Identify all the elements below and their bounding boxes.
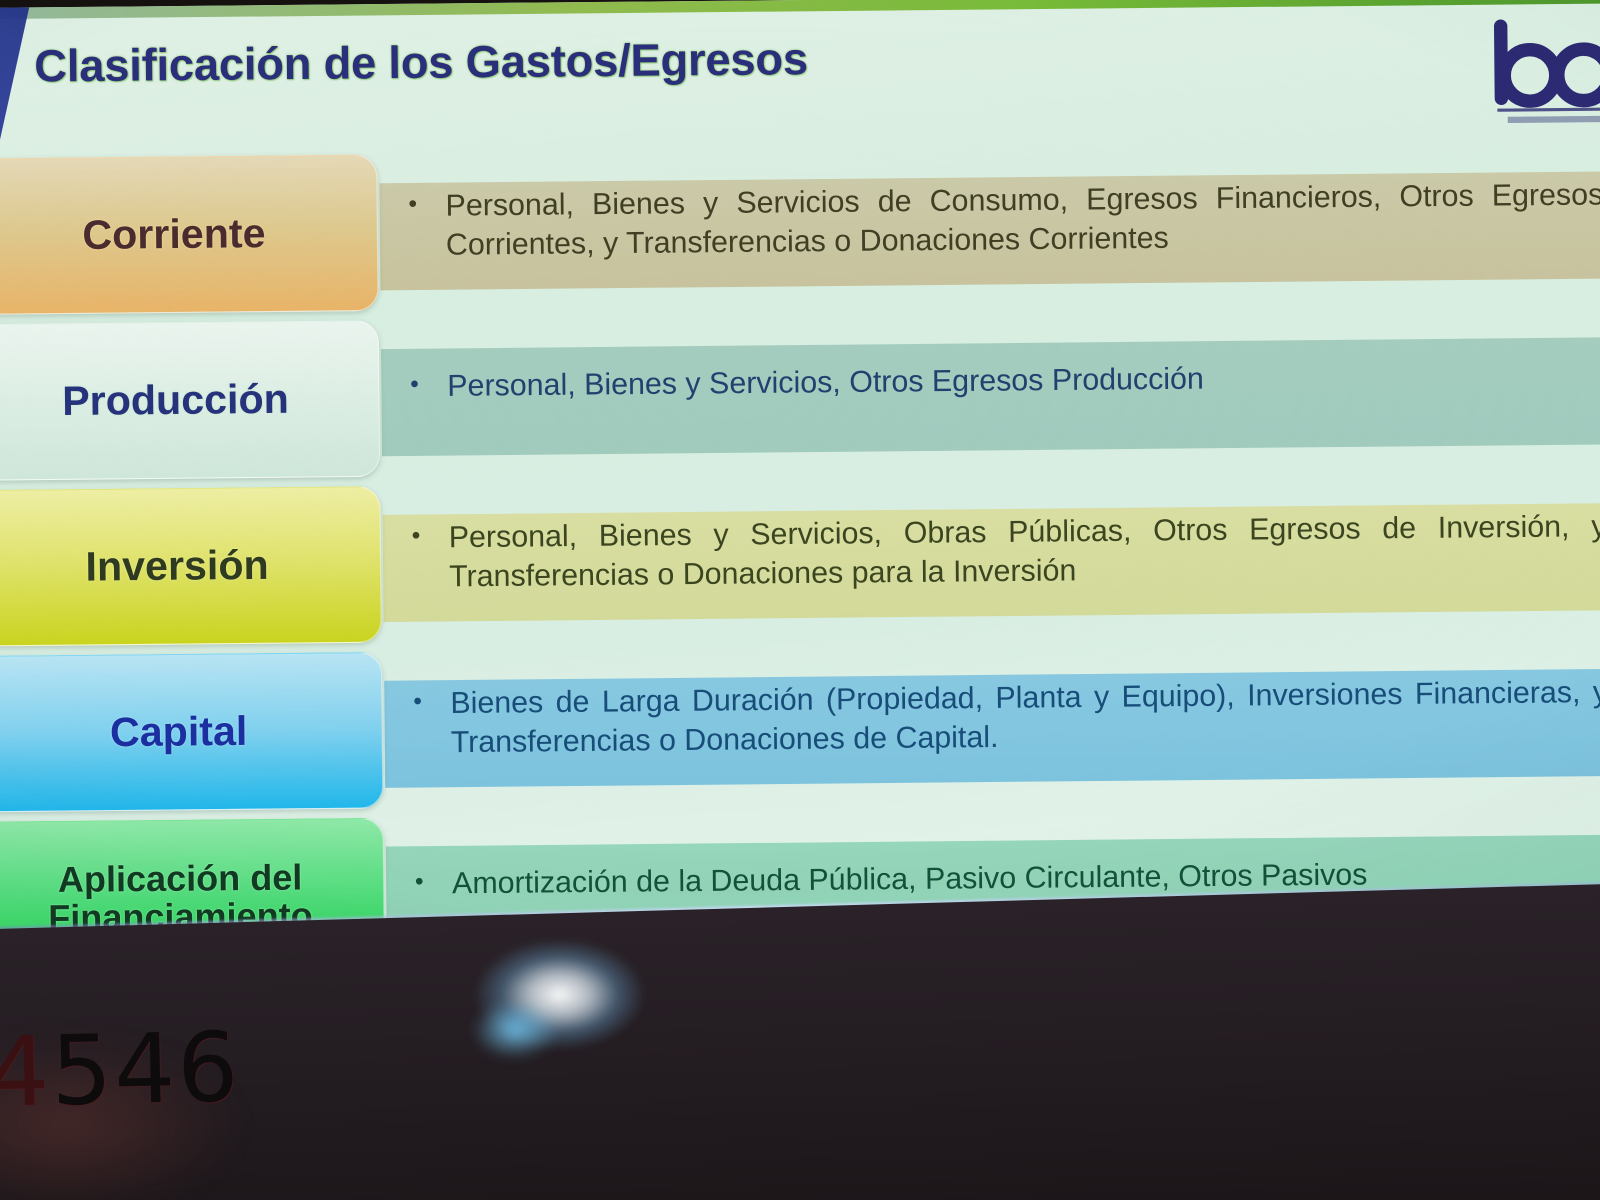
category-label-line1: Aplicación del <box>58 858 303 901</box>
description-text: Bienes de Larga Duración (Propiedad, Pla… <box>413 673 1600 763</box>
bullet-icon: • <box>408 189 417 221</box>
category-label: Corriente <box>68 212 280 258</box>
table-row: Producción • Personal, Bienes y Servicio… <box>0 308 1600 483</box>
corner-slash-decoration <box>0 0 34 175</box>
category-chip-capital[interactable]: Capital <box>0 652 383 812</box>
table-row: Inversión • Personal, Bienes y Servicios… <box>0 474 1600 649</box>
handwritten-digits-rest: 546 <box>50 1011 242 1127</box>
table-row: Corriente • Personal, Bienes y Servicios… <box>0 142 1600 317</box>
description-text: Personal, Bienes y Servicios, Obras Públ… <box>412 507 1600 597</box>
row-description-capital: • Bienes de Larga Duración (Propiedad, P… <box>413 673 1600 763</box>
category-chip-inversion[interactable]: Inversión <box>0 486 382 646</box>
bullet-icon: • <box>412 521 421 553</box>
projected-slide-photo: Clasificación de los Gastos/Egresos Corr… <box>0 0 1600 1200</box>
bullet-icon: • <box>410 369 419 401</box>
bullet-icon: • <box>413 687 422 719</box>
category-label: Capital <box>95 710 262 755</box>
bd-logo <box>1488 17 1600 132</box>
slide-title: Clasificación de los Gastos/Egresos <box>34 34 808 93</box>
row-description-inversion: • Personal, Bienes y Servicios, Obras Pú… <box>412 507 1600 597</box>
category-label: Producción <box>48 377 304 423</box>
row-description-corriente: • Personal, Bienes y Servicios de Consum… <box>408 176 1600 266</box>
table-row: Capital • Bienes de Larga Duración (Prop… <box>0 640 1600 815</box>
classification-rows: Corriente • Personal, Bienes y Servicios… <box>0 142 1600 987</box>
handwritten-digit-first: 4 <box>0 1015 52 1128</box>
category-label: Inversión <box>71 543 283 589</box>
bullet-icon: • <box>415 867 424 899</box>
handwritten-number: 4546 <box>0 1011 241 1128</box>
category-chip-produccion[interactable]: Producción <box>0 320 380 480</box>
category-chip-corriente[interactable]: Corriente <box>0 154 379 314</box>
description-text: Personal, Bienes y Servicios de Consumo,… <box>408 176 1600 266</box>
presentation-slide: Clasificación de los Gastos/Egresos Corr… <box>0 0 1600 999</box>
slide-top-accent-bar <box>0 0 1600 19</box>
